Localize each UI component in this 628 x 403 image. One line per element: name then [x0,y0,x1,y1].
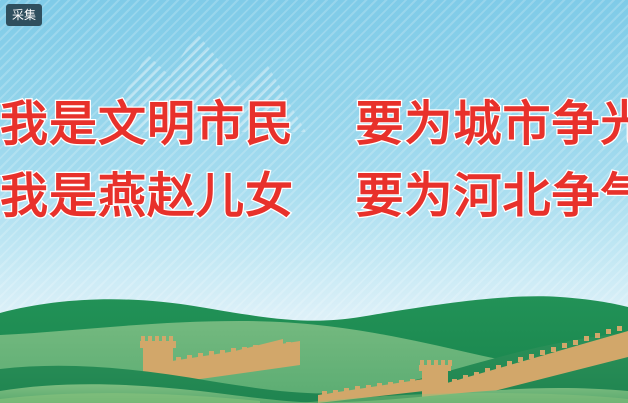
watermark-graphic [92,14,342,134]
capture-button[interactable]: 采集 [6,4,42,26]
landscape-illustration [0,273,628,403]
slogan-banner: 我是文明市民 要为城市争光 我是燕赵儿女 要为河北争气 采集 [0,0,628,403]
